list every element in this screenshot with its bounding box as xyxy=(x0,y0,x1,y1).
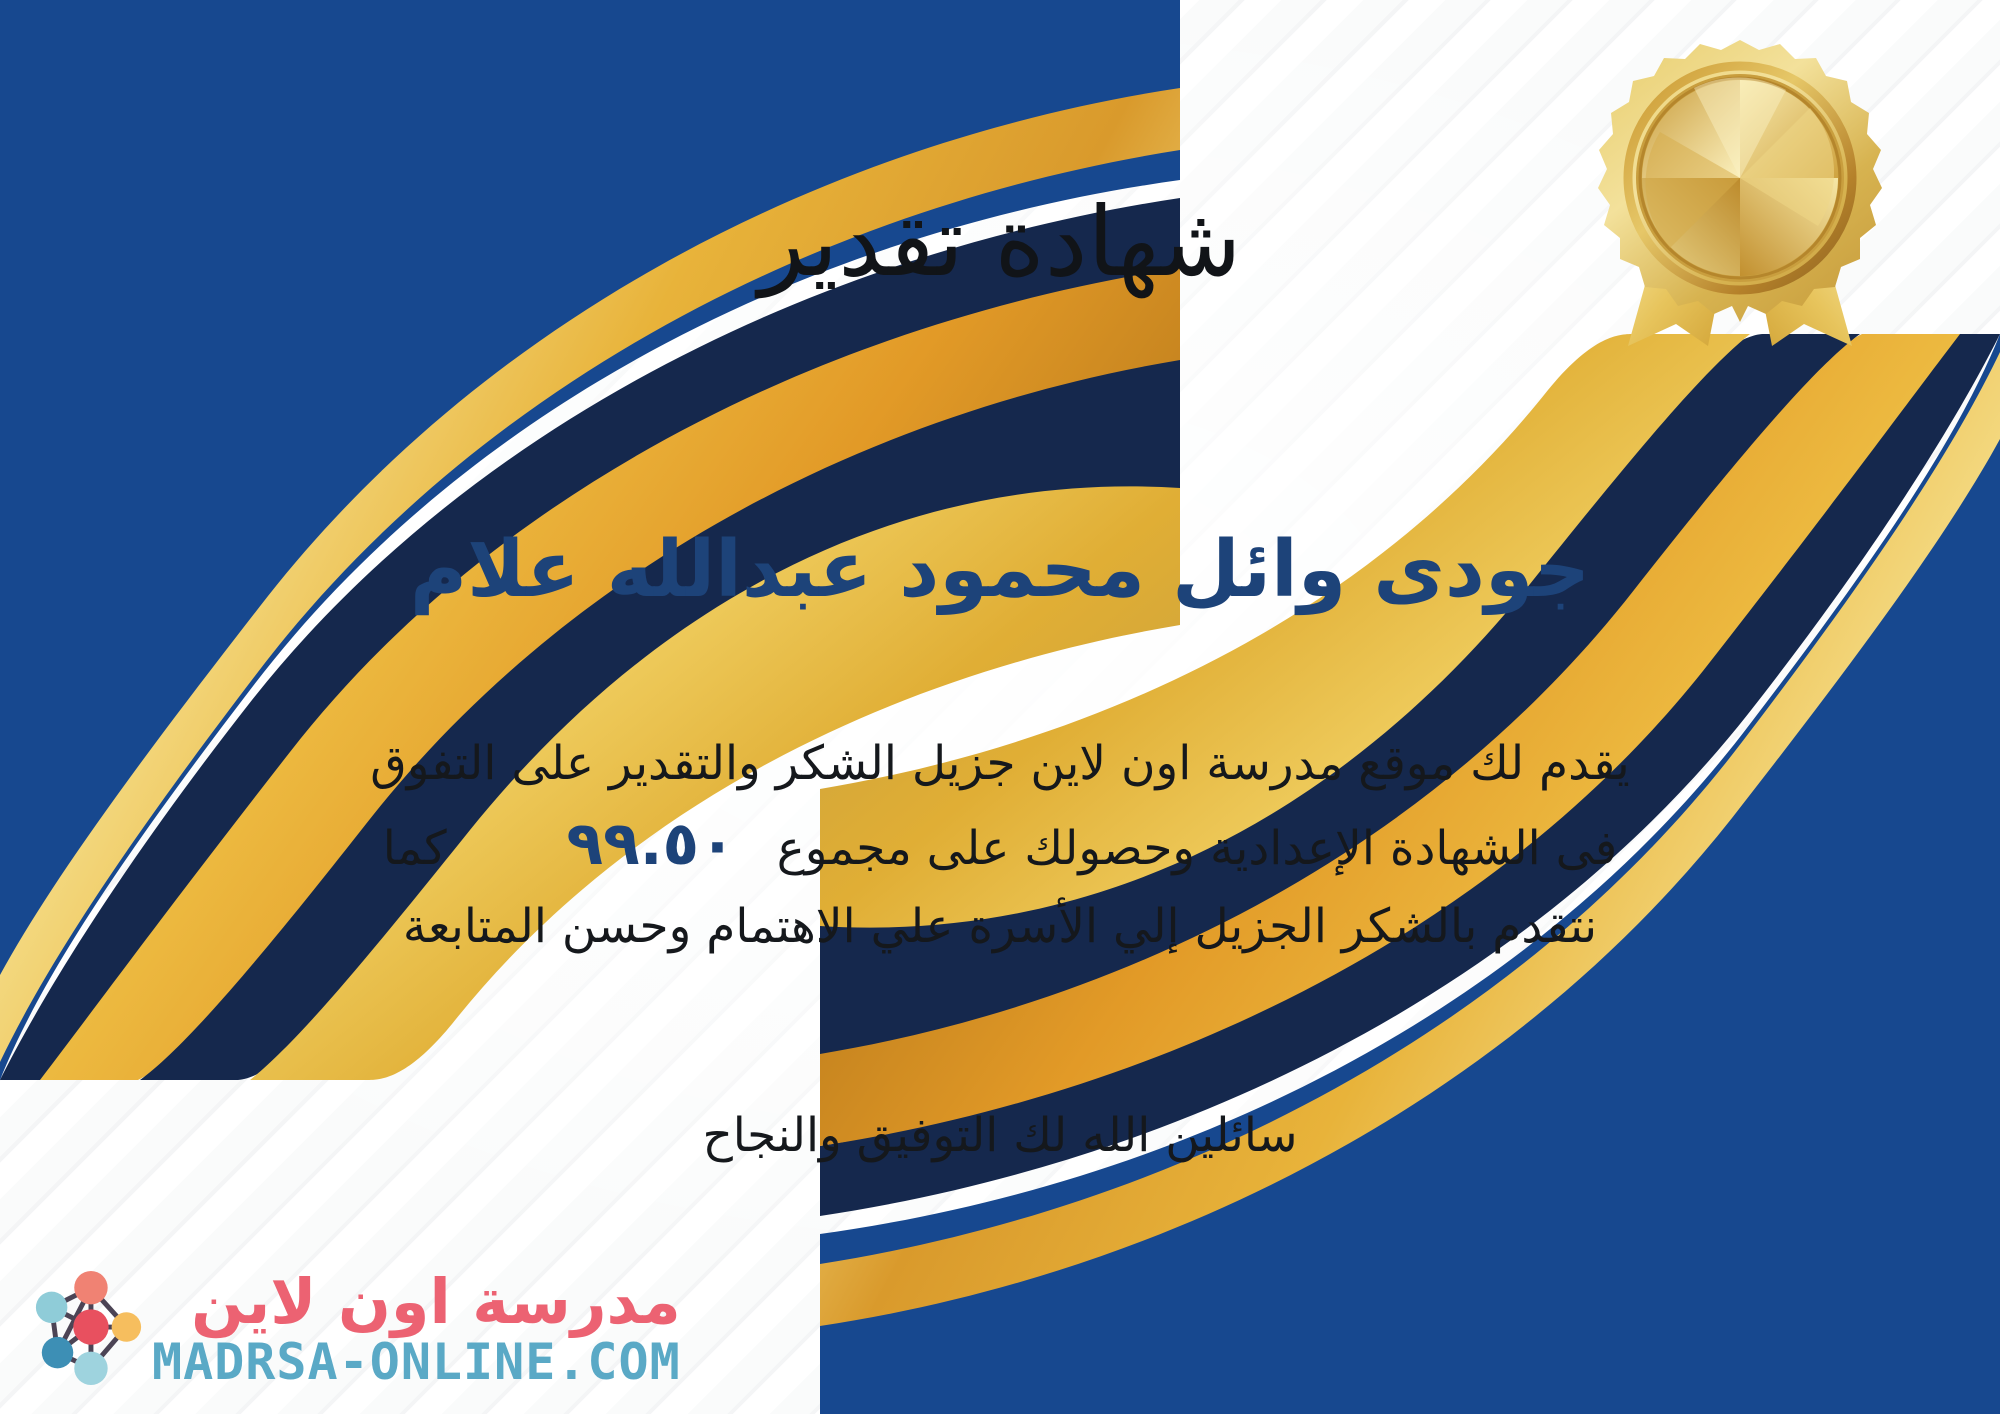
body-line-2: فى الشهادة الإعدادية وحصولك على مجموع ٩٩… xyxy=(110,799,1890,890)
brand-domain: MADRSA-ONLINE.COM xyxy=(152,1337,681,1387)
certificate-body: يقدم لك موقع مدرسة اون لاين جزيل الشكر و… xyxy=(110,728,1890,962)
network-nodes xyxy=(36,1271,141,1385)
body-line-3: نتقدم بالشكر الجزيل إلي الأسرة علي الاهت… xyxy=(110,891,1890,962)
body-line-2-prefix: فى الشهادة الإعدادية وحصولك على مجموع xyxy=(777,821,1618,876)
brand-logo[interactable]: مدرسة اون لاين MADRSA-ONLINE.COM xyxy=(30,1266,681,1392)
student-name: جودى وائل محمود عبدالله علام xyxy=(0,520,2000,621)
total-score-value: ٩٩.٥٠ xyxy=(541,809,762,879)
page-title: شهادة تقدير xyxy=(0,182,2000,302)
brand-name-arabic: مدرسة اون لاين xyxy=(191,1271,681,1333)
network-nodes-icon xyxy=(30,1266,148,1392)
brand-logo-text: مدرسة اون لاين MADRSA-ONLINE.COM xyxy=(152,1271,681,1387)
body-line-1: يقدم لك موقع مدرسة اون لاين جزيل الشكر و… xyxy=(110,728,1890,799)
closing-line: سائلين الله لك التوفيق والنجاح xyxy=(0,1108,2000,1163)
body-line-2-suffix: كما xyxy=(383,821,447,876)
certificate-page: شهادة تقدير جودى وائل محمود عبدالله علام… xyxy=(0,0,2000,1414)
